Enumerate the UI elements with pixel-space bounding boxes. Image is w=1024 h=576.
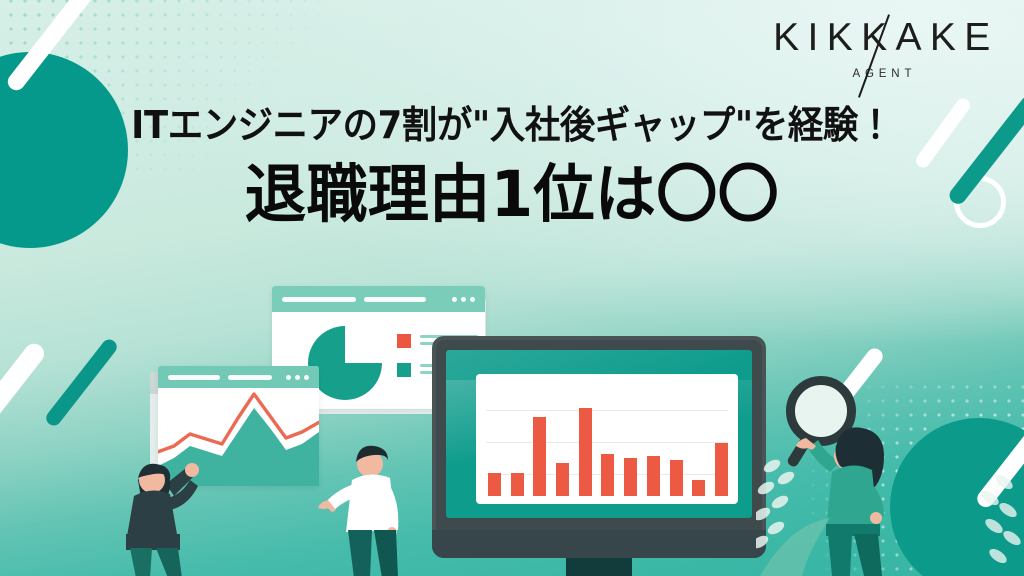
window-dot-icon [725, 382, 729, 386]
person-pointing-at-chart [108, 438, 228, 576]
pie-chart-exploded-gap [345, 326, 382, 363]
window-dot-icon [717, 382, 721, 386]
window-dot-icon [304, 375, 309, 380]
headline-line-2: 退職理由1位は〇〇 [15, 161, 1008, 229]
window-dot-icon [295, 375, 300, 380]
window-controls [452, 297, 475, 302]
bar [601, 454, 614, 496]
titlebar-pill [364, 297, 426, 302]
titlebar-pill [228, 375, 272, 380]
bar-chart-plot [476, 394, 738, 504]
bar [533, 417, 546, 496]
headline-line-1: ITエンジニアの7割が"入社後ギャップ"を経験！ [36, 104, 988, 147]
bar [624, 458, 637, 496]
window-dot-icon [461, 297, 466, 302]
window-dot-icon [452, 297, 457, 302]
bar [488, 473, 501, 496]
bar [511, 473, 524, 496]
titlebar-pill [168, 375, 220, 380]
titlebar-pill [282, 297, 356, 302]
logo-wordmark: KIKKAKE [765, 18, 998, 57]
bar [647, 456, 660, 496]
foliage-base [760, 498, 880, 576]
window-dot-icon [709, 382, 713, 386]
brand-logo: KIKKAKE AGENT [762, 18, 1002, 80]
bar [692, 480, 705, 496]
legend-swatch-icon [397, 334, 411, 348]
window-dot-icon [470, 297, 475, 302]
window-controls [709, 382, 729, 386]
logo-subtitle: AGENT [762, 68, 1002, 80]
pie-window-titlebar [272, 286, 485, 312]
titlebar-pill [485, 382, 577, 386]
window-controls [286, 375, 309, 380]
bar-window-titlebar [476, 374, 738, 394]
area-window-titlebar [158, 366, 319, 388]
headline-block: ITエンジニアの7割が"入社後ギャップ"を経験！ 退職理由1位は〇〇 [0, 104, 1024, 229]
monitor-screen [446, 350, 752, 518]
titlebar-pill [584, 382, 636, 386]
window-dot-icon [286, 375, 291, 380]
bar [579, 408, 592, 496]
bar [556, 463, 569, 496]
bar [670, 460, 683, 496]
banner-canvas: KIKKAKE AGENT ITエンジニアの7割が"入社後ギャップ"を経験！ 退… [0, 0, 1024, 576]
bar-series [488, 402, 728, 496]
person-gesturing [316, 436, 426, 576]
bar [715, 443, 728, 496]
legend-swatch-icon [397, 363, 411, 377]
desktop-monitor [432, 336, 766, 558]
leaf-decoration-right [934, 470, 1024, 576]
monitor-base-band [432, 530, 766, 558]
bar-chart-window [476, 374, 738, 504]
